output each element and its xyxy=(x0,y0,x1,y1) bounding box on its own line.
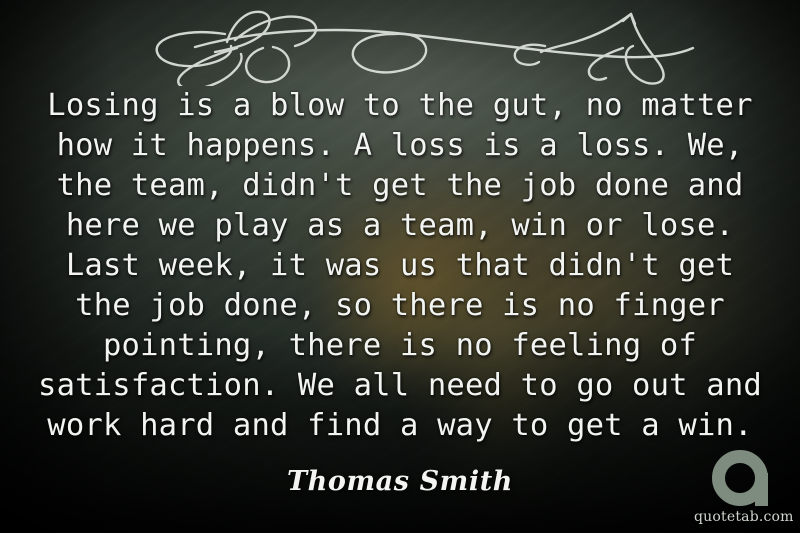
quote-text: Losing is a blow to the gut, no matter h… xyxy=(0,86,800,446)
quote-line: the job done, so there is no finger xyxy=(20,286,780,326)
quotetab-q-icon xyxy=(712,450,768,506)
quote-author: Thomas Smith xyxy=(0,466,800,497)
q-dot xyxy=(755,495,768,506)
quotetab-site-label: quotetab.com xyxy=(694,509,786,525)
quote-card: Losing is a blow to the gut, no matter h… xyxy=(0,0,800,533)
quotetab-logo[interactable]: quotetab.com xyxy=(694,450,786,525)
quote-line: Losing is a blow to the gut, no matter xyxy=(20,86,780,126)
quote-line: here we play as a team, win or lose. xyxy=(20,206,780,246)
quote-line: work hard and find a way to get a win. xyxy=(20,406,780,446)
decorative-flourish-icon xyxy=(75,4,725,86)
quote-line: satisfaction. We all need to go out and xyxy=(20,366,780,406)
quote-line: the team, didn't get the job done and xyxy=(20,166,780,206)
q-notch xyxy=(755,489,768,494)
quote-line: pointing, there is no feeling of xyxy=(20,326,780,366)
quote-line: how it happens. A loss is a loss. We, xyxy=(20,126,780,166)
quote-line: Last week, it was us that didn't get xyxy=(20,246,780,286)
